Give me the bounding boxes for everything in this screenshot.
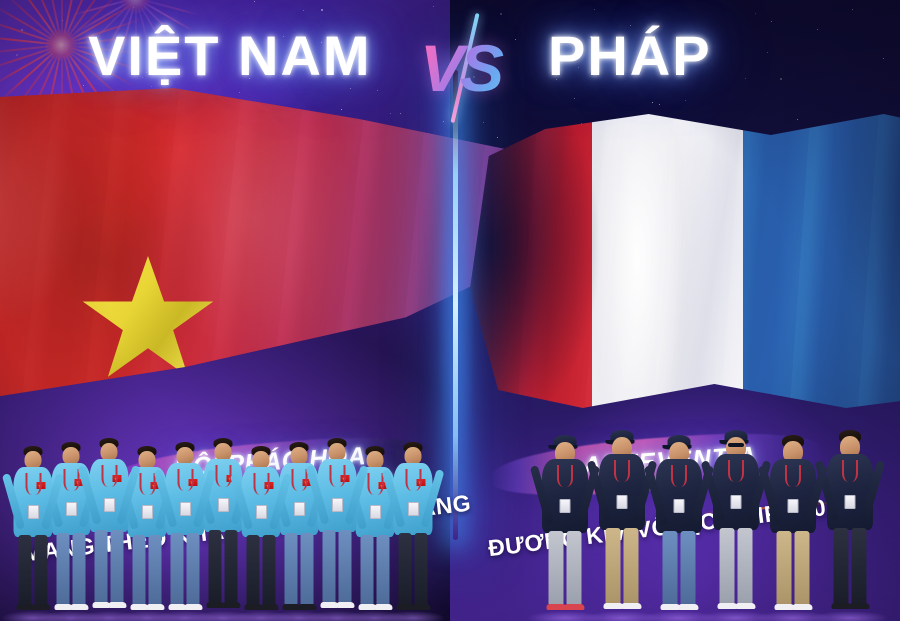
- figure-legs: [209, 530, 238, 603]
- figure-leg: [35, 535, 48, 605]
- lanyard: [291, 469, 307, 491]
- figure-torso: [318, 459, 357, 532]
- figure-leg: [624, 528, 639, 604]
- figure-floor-glow: [78, 611, 141, 621]
- right-country-title: PHÁP: [548, 12, 712, 100]
- figure-legs: [606, 528, 639, 604]
- figure-leg: [263, 535, 276, 605]
- credential-badge: [560, 499, 571, 513]
- shoe: [604, 603, 624, 609]
- figure-leg: [209, 530, 222, 603]
- figure-torso: [770, 459, 816, 533]
- figure-leg: [777, 531, 792, 605]
- figure-torso: [242, 467, 281, 537]
- figure-leg: [549, 531, 564, 605]
- team-member: [825, 430, 875, 621]
- figure-leg: [415, 533, 428, 605]
- figure-legs: [663, 531, 696, 605]
- team-member: [202, 438, 244, 621]
- figure-legs: [19, 535, 48, 605]
- figure-leg: [73, 533, 86, 605]
- team-member: [392, 442, 434, 621]
- figure-legs: [777, 531, 810, 605]
- figure-leg: [171, 533, 184, 605]
- shoe: [736, 603, 756, 609]
- shoe: [622, 603, 642, 609]
- credential-badge: [104, 498, 115, 512]
- shoe: [565, 604, 585, 610]
- lanyard: [842, 460, 858, 482]
- figure-legs: [247, 535, 276, 605]
- credential-badge: [674, 499, 685, 513]
- credential-badge: [28, 505, 39, 519]
- team-member: [654, 435, 704, 621]
- shoe: [850, 603, 870, 609]
- team-member: [164, 442, 206, 621]
- figure-leg: [133, 535, 146, 605]
- figure-leg: [567, 531, 582, 605]
- lanyard: [139, 473, 155, 495]
- figure-torso: [827, 454, 873, 530]
- credential-badge: [66, 502, 77, 516]
- team-member: [768, 435, 818, 621]
- figure-leg: [111, 530, 124, 603]
- shoe: [147, 604, 165, 610]
- shoe: [413, 604, 431, 610]
- shoe: [33, 604, 51, 610]
- figure-torso: [394, 463, 433, 535]
- team-member: [711, 430, 761, 621]
- figure-legs: [720, 528, 753, 604]
- figure-leg: [19, 535, 32, 605]
- figure-legs: [549, 531, 582, 605]
- figure-leg: [301, 533, 314, 605]
- figure-floor-glow: [306, 611, 369, 621]
- figure-leg: [681, 531, 696, 605]
- versus-badge: VS: [415, 18, 505, 118]
- title-row: VIỆT NAM VS PHÁP: [0, 12, 900, 100]
- lanyard: [63, 469, 79, 491]
- lanyard: [671, 465, 687, 487]
- credential-badge: [617, 495, 628, 509]
- credential-badge: [142, 505, 153, 519]
- credential-badge: [408, 502, 419, 516]
- figure-leg: [399, 533, 412, 605]
- lanyard: [785, 465, 801, 487]
- figure-leg: [285, 533, 298, 605]
- figure-floor-glow: [642, 611, 717, 621]
- credential-badge: [256, 505, 267, 519]
- figure-legs: [57, 533, 86, 605]
- figure-leg: [834, 528, 849, 604]
- figure-floor-glow: [230, 611, 293, 621]
- lanyard: [557, 465, 573, 487]
- lanyard: [215, 465, 231, 487]
- figure-legs: [133, 535, 162, 605]
- figure-floor-glow: [382, 611, 445, 621]
- credential-badge: [180, 502, 191, 516]
- figure-floor-glow: [154, 611, 217, 621]
- shoe: [775, 604, 795, 610]
- shoe: [299, 604, 317, 610]
- figure-legs: [95, 530, 124, 603]
- figure-leg: [339, 530, 352, 603]
- figure-leg: [720, 528, 735, 604]
- shoe: [832, 603, 852, 609]
- figure-leg: [323, 530, 336, 603]
- shoe: [337, 602, 355, 608]
- figure-torso: [542, 459, 588, 533]
- figure-torso: [656, 459, 702, 533]
- figure-leg: [247, 535, 260, 605]
- figure-leg: [95, 530, 108, 603]
- figure-leg: [225, 530, 238, 603]
- lanyard: [253, 473, 269, 495]
- figure-leg: [149, 535, 162, 605]
- shoe: [547, 604, 567, 610]
- figure-leg: [361, 535, 374, 605]
- lanyard: [367, 473, 383, 495]
- credential-badge: [788, 499, 799, 513]
- team-member: [12, 446, 54, 621]
- left-country-title: VIỆT NAM: [88, 12, 372, 100]
- figure-leg: [852, 528, 867, 604]
- sunglasses-icon: [728, 443, 744, 447]
- lanyard: [728, 460, 744, 482]
- credential-badge: [731, 495, 742, 509]
- figure-torso: [713, 454, 759, 530]
- credential-badge: [218, 498, 229, 512]
- matchup-poster: VIỆT NAM VS PHÁP ĐỘI PHÁO HOA QUỐC TẾ ĐÀ…: [0, 0, 900, 621]
- shoe: [71, 604, 89, 610]
- credential-badge: [845, 495, 856, 509]
- shoe: [261, 604, 279, 610]
- shoe: [718, 603, 738, 609]
- team-member: [88, 438, 130, 621]
- figure-leg: [187, 533, 200, 605]
- figure-legs: [399, 533, 428, 605]
- credential-badge: [370, 505, 381, 519]
- credential-badge: [294, 502, 305, 516]
- team-member: [240, 446, 282, 621]
- shoe: [109, 602, 127, 608]
- figure-torso: [90, 459, 129, 532]
- shoe: [661, 604, 681, 610]
- figure-torso: [599, 454, 645, 530]
- figure-legs: [323, 530, 352, 603]
- lanyard: [329, 465, 345, 487]
- team-member: [540, 435, 590, 621]
- figure-torso: [166, 463, 205, 535]
- figure-legs: [285, 533, 314, 605]
- versus-label: VS: [415, 18, 505, 118]
- figure-leg: [57, 533, 70, 605]
- shoe: [223, 602, 241, 608]
- figure-leg: [738, 528, 753, 604]
- figure-leg: [795, 531, 810, 605]
- figure-floor-glow: [528, 611, 603, 621]
- lanyard: [177, 469, 193, 491]
- shoe: [185, 604, 203, 610]
- shoe: [793, 604, 813, 610]
- figure-leg: [377, 535, 390, 605]
- team-member: [316, 438, 358, 621]
- lanyard: [405, 469, 421, 491]
- figure-leg: [606, 528, 621, 604]
- shoe: [375, 604, 393, 610]
- figure-legs: [171, 533, 200, 605]
- lanyard: [25, 473, 41, 495]
- vietnam-team-group: [0, 421, 450, 621]
- credential-badge: [332, 498, 343, 512]
- figure-legs: [361, 535, 390, 605]
- figure-legs: [834, 528, 867, 604]
- figure-torso: [14, 467, 53, 537]
- team-member: [597, 430, 647, 621]
- shoe: [679, 604, 699, 610]
- figure-floor-glow: [2, 611, 65, 621]
- lanyard: [101, 465, 117, 487]
- figure-floor-glow: [756, 611, 831, 621]
- lanyard: [614, 460, 630, 482]
- figure-leg: [663, 531, 678, 605]
